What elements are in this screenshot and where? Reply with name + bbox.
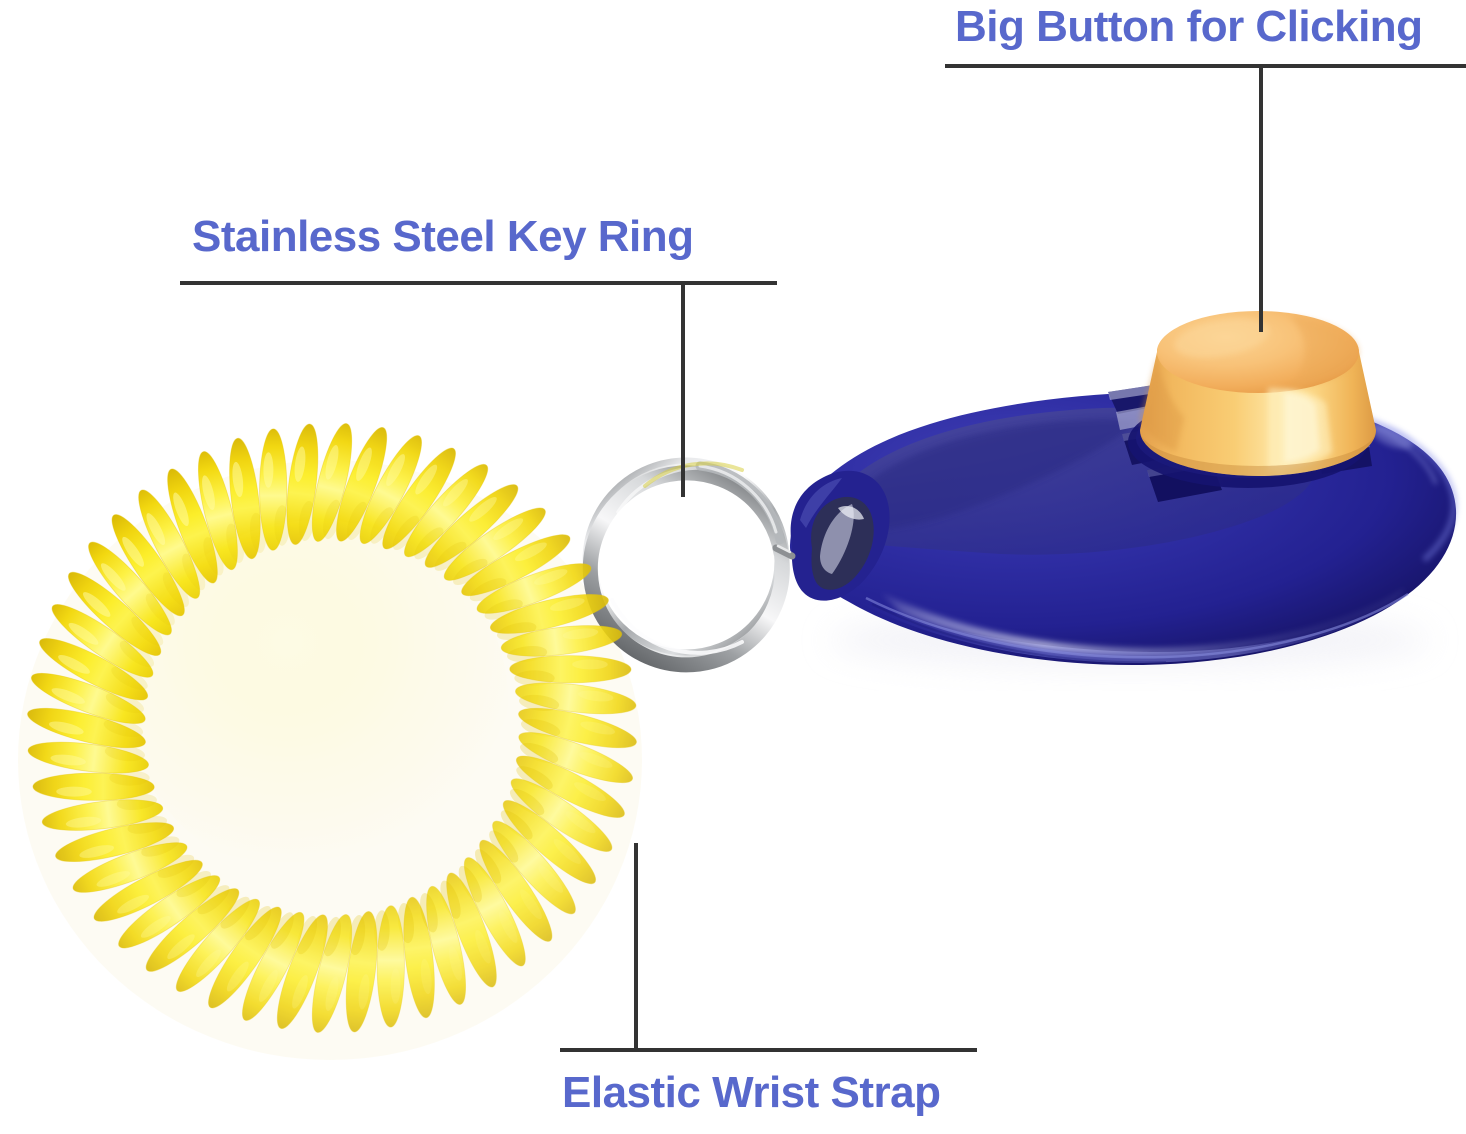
callout-label-big-button: Big Button for Clicking <box>955 2 1423 52</box>
callout-rule-key-ring <box>180 281 777 285</box>
callout-leader-wrist-strap <box>634 843 638 1050</box>
orange-click-button <box>1140 311 1376 476</box>
product-image-canvas: Big Button for Clicking Stainless Steel … <box>0 0 1466 1134</box>
callout-rule-big-button <box>945 64 1466 68</box>
callout-rule-wrist-strap <box>560 1048 977 1052</box>
callout-leader-key-ring <box>681 281 685 497</box>
callout-leader-big-button <box>1259 64 1263 332</box>
callout-label-wrist-strap: Elastic Wrist Strap <box>562 1068 941 1118</box>
callout-label-key-ring: Stainless Steel Key Ring <box>192 212 694 262</box>
clicker-product-photo <box>0 0 1466 1134</box>
